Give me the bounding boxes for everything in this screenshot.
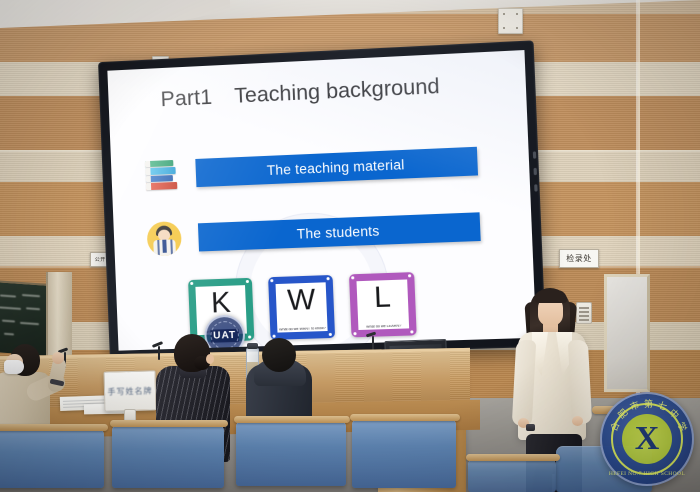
- right-door-panel: [604, 274, 650, 392]
- slide-title-part: Part1: [160, 86, 213, 112]
- chair-arm: [234, 416, 350, 423]
- teaching-material-bar[interactable]: The teaching material: [195, 147, 478, 187]
- name-placard-text: 手写姓名牌: [107, 385, 152, 397]
- name-placard: 手写姓名牌: [103, 370, 156, 411]
- kwl-card-w[interactable]: W What do we WANT to know?: [268, 275, 335, 340]
- kwl-card-letter: L: [374, 283, 392, 313]
- slide-title: Part1 Teaching background: [160, 75, 440, 113]
- school-logo-core: X: [622, 414, 672, 464]
- chair: [352, 418, 456, 488]
- chair-arm: [466, 454, 560, 461]
- school-logo-mark: X: [635, 422, 660, 456]
- chair-arm: [110, 420, 228, 427]
- wall-display[interactable]: Part1 Teaching background The teaching m…: [98, 40, 546, 360]
- display-screen[interactable]: Part1 Teaching background The teaching m…: [107, 50, 536, 351]
- student-avatar-icon: [143, 218, 185, 260]
- presentation-clicker[interactable]: [526, 424, 535, 431]
- chair: [236, 420, 346, 486]
- kwl-card-letter: K: [211, 289, 232, 319]
- slide-row-students: The students: [143, 206, 481, 259]
- presentation-slide: Part1 Teaching background The teaching m…: [107, 50, 536, 351]
- wall-sign-right: 检录处: [559, 249, 599, 268]
- students-label: The students: [296, 223, 379, 241]
- classroom-presentation-photo: 公开课 检录处 Part1 Teaching background: [0, 0, 700, 492]
- slide-row-teaching-material: The teaching material: [141, 141, 478, 196]
- school-logo-english: HEFEI NO.7 HIGH SCHOOL: [602, 471, 692, 477]
- kwl-card-l[interactable]: L What do we LEARN?: [349, 272, 417, 337]
- teaching-material-label: The teaching material: [266, 157, 404, 178]
- chair-arm: [350, 414, 460, 421]
- kwl-card-letter: W: [287, 286, 316, 316]
- chair: [0, 428, 104, 488]
- students-bar[interactable]: The students: [198, 212, 481, 251]
- chair: [112, 424, 224, 488]
- stack-of-books-icon: [141, 154, 183, 196]
- chair-arm: [0, 424, 108, 431]
- wall-mount-plate: [498, 8, 523, 34]
- slide-title-topic: Teaching background: [234, 75, 440, 108]
- chair: [468, 458, 556, 492]
- school-logo: 第 市 肥 合 七 中 学 X HEFEI NO.7 HIGH SCHOOL: [600, 392, 694, 486]
